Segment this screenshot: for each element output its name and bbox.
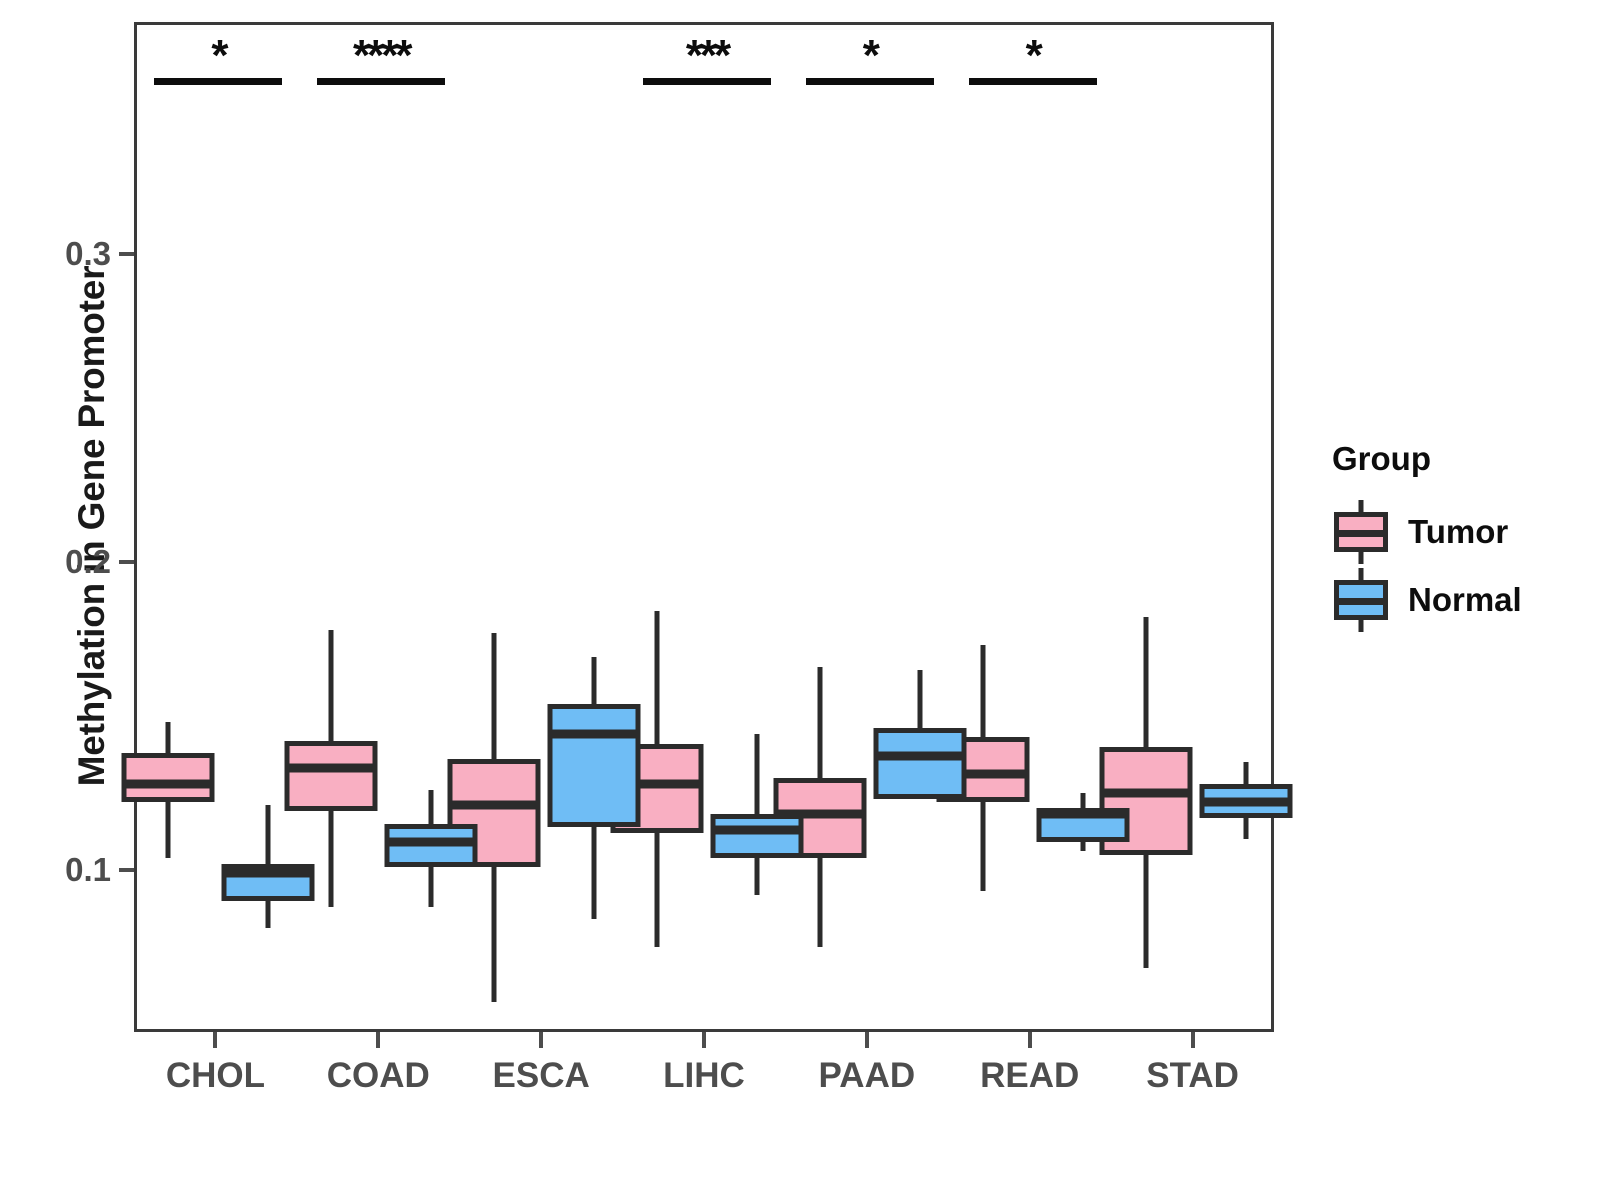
median-line bbox=[385, 838, 478, 847]
y-tick-mark bbox=[119, 868, 134, 872]
legend-item-tumor[interactable]: Tumor bbox=[1332, 502, 1592, 562]
y-tick-mark bbox=[119, 252, 134, 256]
significance-stars-read: * bbox=[883, 34, 1183, 78]
box bbox=[122, 753, 215, 802]
median-line bbox=[448, 801, 541, 810]
x-tick-mark-paad bbox=[865, 1032, 869, 1048]
legend-title: Group bbox=[1332, 440, 1592, 478]
legend-items: TumorNormal bbox=[1332, 502, 1592, 630]
y-tick-label: 0.3 bbox=[0, 235, 111, 273]
significance-stars-coad: **** bbox=[231, 34, 531, 78]
legend: Group TumorNormal bbox=[1332, 440, 1592, 638]
x-tick-mark-lihc bbox=[702, 1032, 706, 1048]
legend-key-icon bbox=[1332, 506, 1390, 558]
legend-label: Tumor bbox=[1408, 513, 1508, 551]
median-line bbox=[1199, 798, 1292, 807]
plot-panel: ********** bbox=[134, 22, 1274, 1032]
median-line bbox=[1099, 788, 1192, 797]
x-tick-mark-read bbox=[1028, 1032, 1032, 1048]
legend-key-icon bbox=[1332, 574, 1390, 626]
median-line bbox=[548, 730, 641, 739]
box bbox=[873, 728, 966, 799]
y-tick-mark bbox=[119, 560, 134, 564]
legend-item-normal[interactable]: Normal bbox=[1332, 570, 1592, 630]
legend-label: Normal bbox=[1408, 581, 1522, 619]
median-line bbox=[1036, 810, 1129, 819]
box bbox=[285, 741, 378, 812]
y-tick-label: 0.1 bbox=[0, 851, 111, 889]
x-tick-label-stad: STAD bbox=[1083, 1056, 1303, 1096]
y-axis-title: Methylation in Gene Promoter bbox=[71, 176, 113, 876]
legend-median bbox=[1334, 598, 1388, 605]
x-tick-mark-esca bbox=[539, 1032, 543, 1048]
box bbox=[548, 704, 641, 827]
x-tick-mark-coad bbox=[376, 1032, 380, 1048]
y-tick-label: 0.2 bbox=[0, 543, 111, 581]
median-line bbox=[873, 751, 966, 760]
median-line bbox=[711, 825, 804, 834]
x-tick-mark-chol bbox=[213, 1032, 217, 1048]
median-line bbox=[122, 779, 215, 788]
legend-median bbox=[1334, 530, 1388, 537]
median-line bbox=[222, 869, 315, 878]
x-tick-mark-stad bbox=[1191, 1032, 1195, 1048]
box bbox=[711, 814, 804, 857]
median-line bbox=[285, 764, 378, 773]
chart-root: Methylation in Gene Promoter 0.10.20.3 C… bbox=[0, 0, 1600, 1200]
